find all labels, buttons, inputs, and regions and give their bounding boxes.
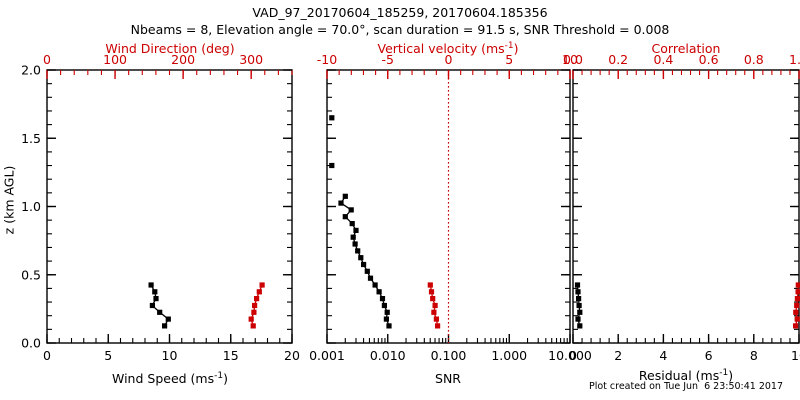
data-point-snr-top <box>435 323 440 328</box>
top-tick-label-residual: 0.0 <box>563 52 583 67</box>
data-point-wind-bottom <box>153 296 158 301</box>
top-tick-label-wind: 0 <box>43 52 51 67</box>
data-point-residual-top <box>793 323 798 328</box>
xtick-label-wind: 15 <box>223 348 239 363</box>
data-point-snr-top <box>431 310 436 315</box>
data-point-residual-top <box>794 303 799 308</box>
data-point-snr-bottom <box>353 241 358 246</box>
ytick-label: 2.0 <box>21 63 41 78</box>
top-tick-label-snr: -10 <box>317 52 337 67</box>
data-point-wind-bottom <box>162 323 167 328</box>
plot-svg: 0510152001002003000.00.51.01.52.00.0010.… <box>0 0 800 400</box>
data-point-snr-bottom <box>385 310 390 315</box>
xtick-label-snr: 1.000 <box>491 348 527 363</box>
top-tick-label-snr: -5 <box>382 52 394 67</box>
top-tick-label-residual: 1.0 <box>789 52 800 67</box>
top-tick-label-snr: 5 <box>505 52 513 67</box>
data-point-snr-bottom <box>373 282 378 287</box>
data-point-residual-top <box>795 317 800 322</box>
data-point-snr-bottom <box>343 194 348 199</box>
data-point-snr-bottom <box>377 289 382 294</box>
data-point-snr-bottom <box>358 255 363 260</box>
data-point-residual-top <box>796 282 800 287</box>
top-tick-label-residual: 0.4 <box>653 52 673 67</box>
ytick-label: 0.5 <box>21 267 41 282</box>
data-point-wind-bottom <box>149 282 154 287</box>
data-point-wind-top <box>257 289 262 294</box>
data-point-snr-bottom <box>351 235 356 240</box>
xtick-label-residual: 10 <box>791 348 800 363</box>
xtick-label-residual: 6 <box>705 348 713 363</box>
xtick-label-wind: 0 <box>43 348 51 363</box>
data-point-snr-bottom <box>329 163 334 168</box>
data-point-residual-bottom <box>577 310 582 315</box>
data-point-wind-bottom <box>157 310 162 315</box>
data-point-wind-top <box>254 296 259 301</box>
data-point-snr-bottom <box>380 296 385 301</box>
data-point-wind-top <box>260 282 265 287</box>
data-point-wind-bottom <box>150 303 155 308</box>
data-point-wind-top <box>251 323 256 328</box>
top-tick-label-residual: 0.2 <box>608 52 628 67</box>
data-point-residual-bottom <box>575 289 580 294</box>
xtick-label-wind: 5 <box>104 348 112 363</box>
ytick-label: 0.0 <box>21 336 41 351</box>
panel-frame-residual <box>573 70 799 343</box>
xtick-label-snr: 0.010 <box>370 348 406 363</box>
ytick-label: 1.0 <box>21 199 41 214</box>
xtick-label-snr: 0.100 <box>431 348 467 363</box>
data-point-snr-top <box>433 303 438 308</box>
xtick-label-residual: 4 <box>659 348 667 363</box>
data-point-snr-bottom <box>350 221 355 226</box>
data-point-snr-bottom <box>368 276 373 281</box>
data-point-residual-bottom <box>575 282 580 287</box>
data-point-snr-top <box>434 317 439 322</box>
data-point-wind-bottom <box>152 289 157 294</box>
data-point-snr-top <box>428 282 433 287</box>
data-point-snr-bottom <box>338 201 343 206</box>
data-point-snr-bottom <box>382 303 387 308</box>
top-tick-label-wind: 200 <box>171 52 195 67</box>
data-point-snr-bottom <box>355 248 360 253</box>
data-point-residual-bottom <box>576 296 581 301</box>
data-point-residual-bottom <box>577 303 582 308</box>
xtick-label-residual: 2 <box>614 348 622 363</box>
data-point-snr-bottom <box>353 228 358 233</box>
data-point-wind-top <box>251 310 256 315</box>
data-point-residual-bottom <box>577 323 582 328</box>
xtick-label-snr: 0.001 <box>309 348 345 363</box>
data-point-snr-top <box>429 289 434 294</box>
xtick-label-wind: 10 <box>162 348 178 363</box>
data-point-residual-top <box>796 289 800 294</box>
ytick-label: 1.5 <box>21 131 41 146</box>
data-point-snr-bottom <box>343 214 348 219</box>
top-tick-label-wind: 300 <box>239 52 263 67</box>
xtick-label-residual: 0 <box>569 348 577 363</box>
xtick-label-residual: 8 <box>750 348 758 363</box>
data-point-snr-bottom <box>365 269 370 274</box>
data-point-snr-bottom <box>384 317 389 322</box>
xtick-label-wind: 20 <box>284 348 300 363</box>
figure-canvas: VAD_97_20170604_185259, 20170604.185356 … <box>0 0 800 400</box>
data-point-snr-bottom <box>361 262 366 267</box>
data-point-snr-bottom <box>349 207 354 212</box>
data-point-residual-bottom <box>575 317 580 322</box>
data-point-snr-top <box>430 296 435 301</box>
data-point-wind-top <box>252 303 257 308</box>
data-point-wind-top <box>249 317 254 322</box>
data-point-snr-bottom <box>329 115 334 120</box>
top-tick-label-snr: 0 <box>445 52 453 67</box>
data-point-residual-top <box>793 310 798 315</box>
top-tick-label-residual: 0.8 <box>744 52 764 67</box>
top-tick-label-residual: 0.6 <box>699 52 719 67</box>
data-point-snr-bottom <box>386 323 391 328</box>
data-point-wind-bottom <box>166 317 171 322</box>
top-tick-label-wind: 100 <box>103 52 127 67</box>
data-point-residual-top <box>795 296 800 301</box>
